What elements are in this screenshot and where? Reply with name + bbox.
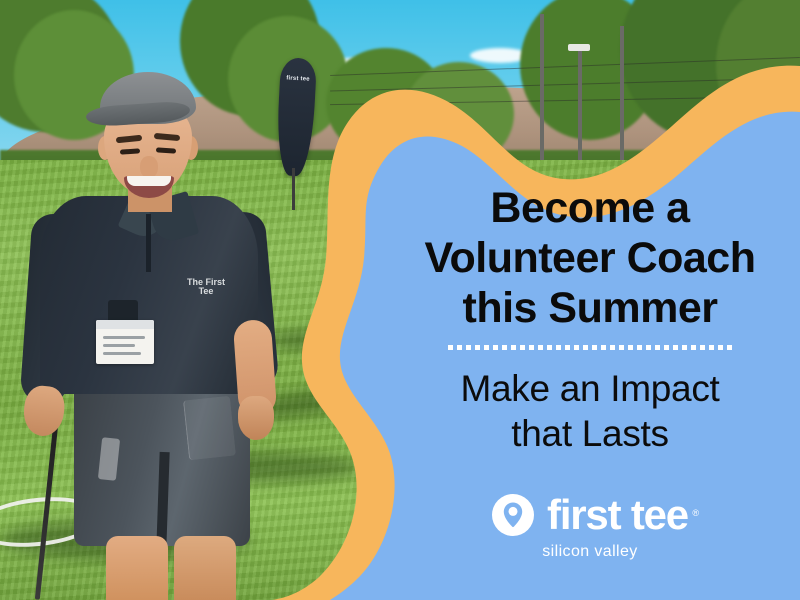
- headline-line-2: Volunteer Coach: [380, 233, 800, 283]
- subheading-line-1: Make an Impact: [380, 366, 800, 411]
- promotional-poster: first tee The First Tee: [0, 0, 800, 600]
- registered-trademark-symbol: ®: [692, 492, 699, 534]
- subheading: Make an Impact that Lasts: [380, 366, 800, 456]
- dotted-divider: [448, 345, 732, 350]
- logo-row: first tee ®: [380, 494, 800, 536]
- location-pin-circle-icon: [492, 494, 534, 536]
- headline-line-1: Become a: [380, 183, 800, 233]
- first-tee-logo: first tee ® silicon valley: [380, 494, 800, 561]
- logo-chapter-name: silicon valley: [380, 543, 800, 561]
- message-panel: Become a Volunteer Coach this Summer Mak…: [380, 0, 800, 600]
- logo-wordmark: first tee ®: [547, 494, 688, 536]
- headline-line-3: this Summer: [380, 283, 800, 333]
- headline: Become a Volunteer Coach this Summer: [380, 183, 800, 333]
- subheading-line-2: that Lasts: [380, 411, 800, 456]
- logo-wordmark-text: first tee: [547, 491, 688, 538]
